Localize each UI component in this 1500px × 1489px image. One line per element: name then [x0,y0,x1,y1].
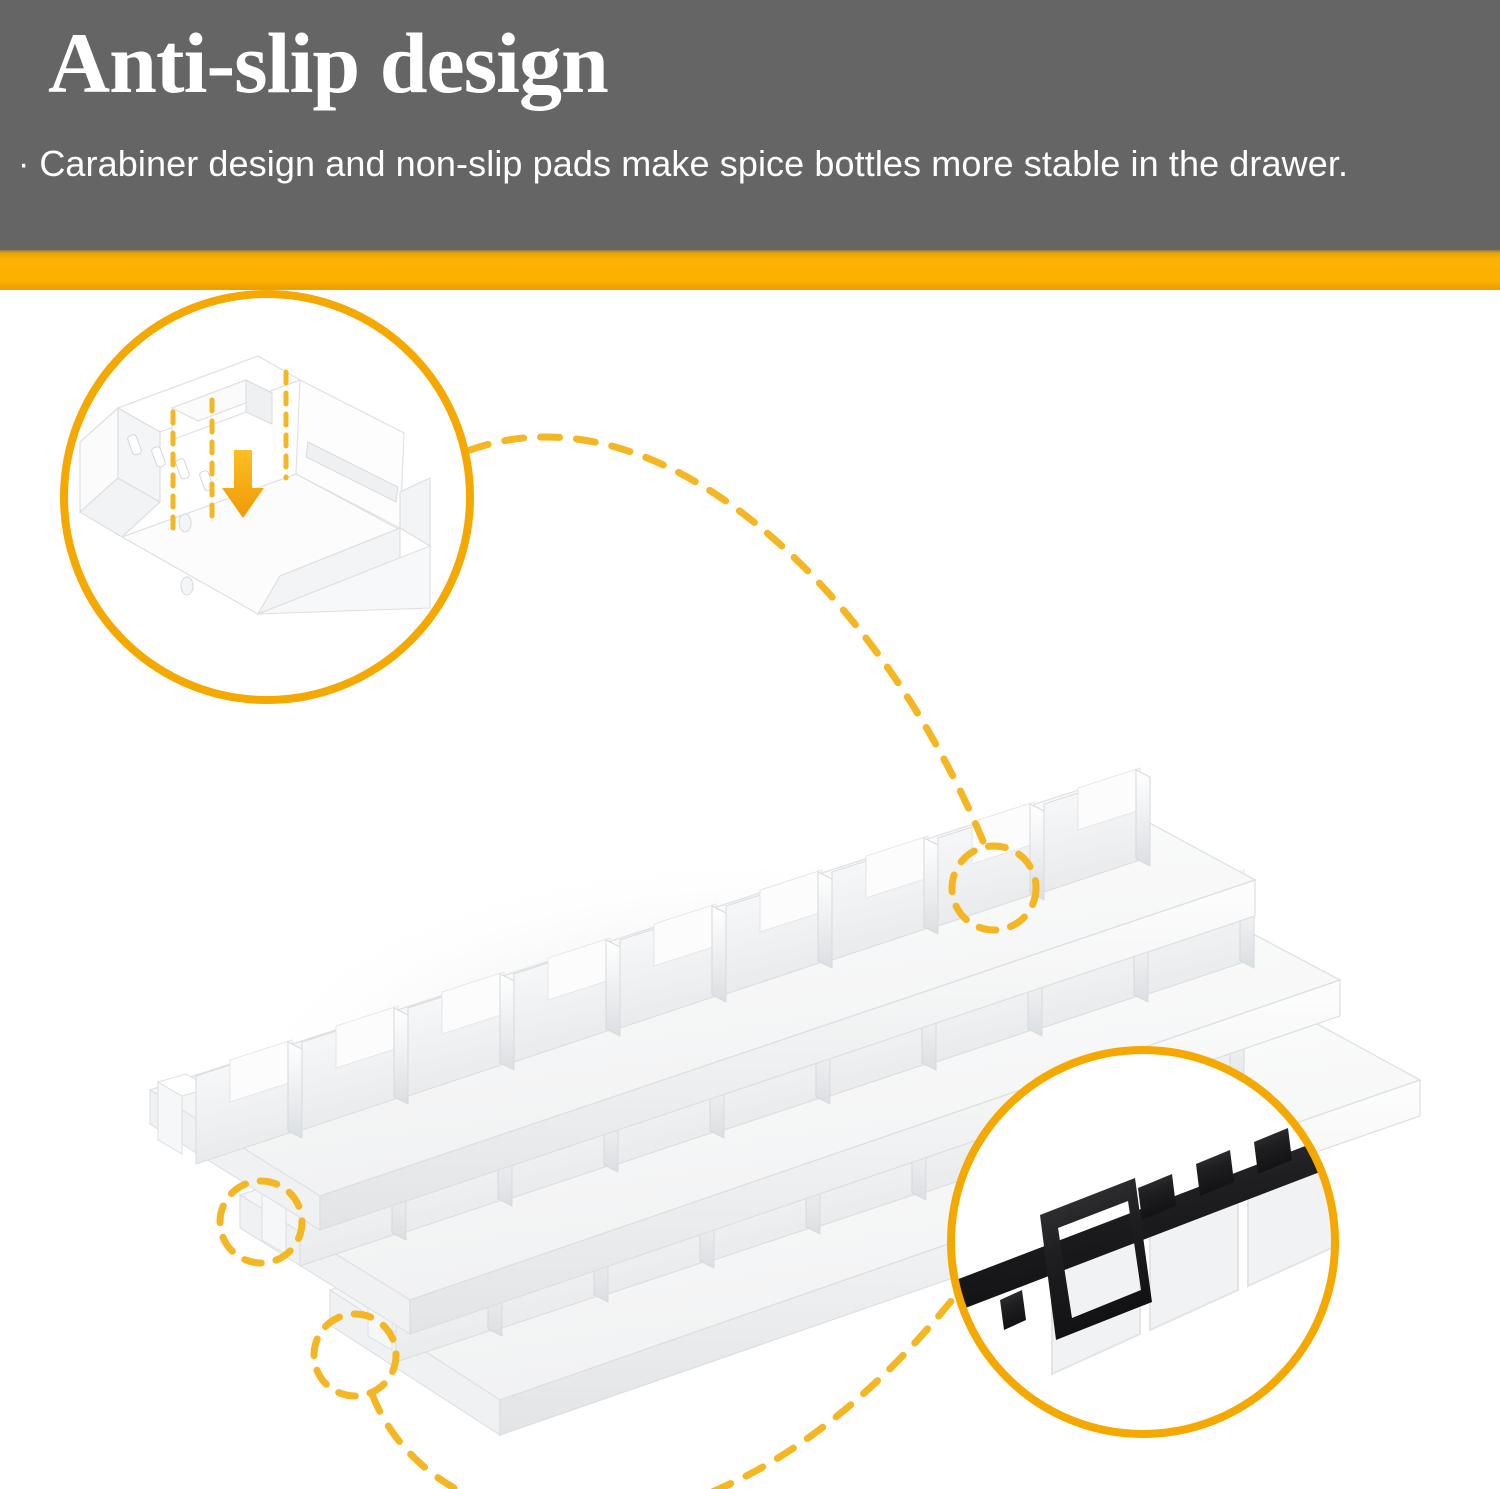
accent-divider-bar [0,250,1500,290]
bullet-marker-icon: · [14,138,29,190]
page-title: Anti-slip design [48,18,608,108]
header-band: Anti-slip design · Carabiner design and … [0,0,1500,250]
product-scene: expandable drawer spice organizer tray c… [0,290,1500,1489]
cell-clip-rail [712,906,726,1002]
clip-nub [181,577,193,595]
cell-clip-rail [1136,770,1150,866]
cell-clip-rail [924,838,938,934]
assembly-inset [64,294,470,700]
cell-clip-rail [500,974,514,1070]
clip-nub [179,514,191,532]
cell-clip-rail [288,1042,302,1138]
header-subtitle: Carabiner design and non-slip pads make … [39,138,1348,190]
cell-clip-rail [394,1008,408,1104]
callout-connector-top [470,437,985,846]
header-bullet-row: · Carabiner design and non-slip pads mak… [14,138,1484,190]
cell-clip-rail [606,940,620,1036]
product-illustration [0,290,1500,1489]
cell-clip-rail [818,872,832,968]
